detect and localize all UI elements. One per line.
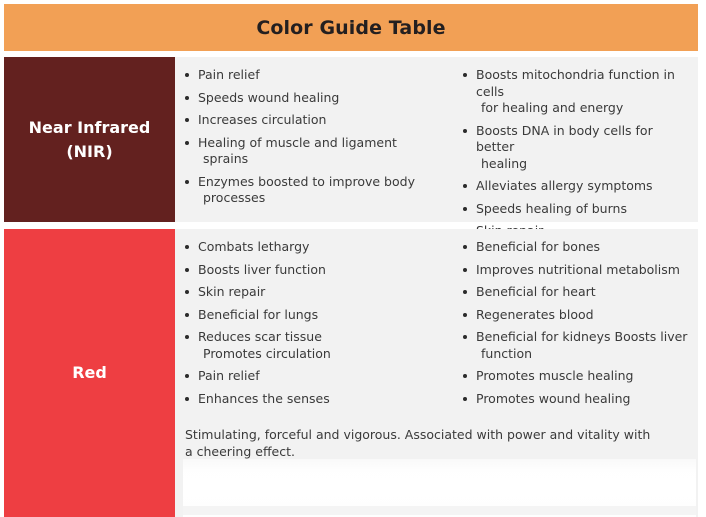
- list-item-text-continued: function: [476, 346, 690, 363]
- list-item-text: Speeds healing of burns: [476, 201, 627, 216]
- list-item: Beneficial for kidneys Boosts liver func…: [461, 329, 690, 362]
- list-item-text: Skin repair: [198, 284, 265, 299]
- list-item-text: Improves nutritional metabolism: [476, 262, 680, 277]
- row-label-line-primary: Red: [72, 361, 107, 384]
- list-item-text: Enhances the senses: [198, 391, 330, 406]
- list-item: Pain relief: [183, 67, 441, 84]
- list-item: Increases circulation: [183, 112, 441, 129]
- list-item-text-continued: sprains: [198, 151, 441, 168]
- bullet-column-left: Combats lethargy Boosts liver function S…: [183, 239, 447, 413]
- list-item-text-continued: processes: [198, 190, 441, 207]
- list-item-text: Speeds wound healing: [198, 90, 339, 105]
- list-item: Healing of muscle and ligament sprains: [183, 135, 441, 168]
- list-item-text: Alleviates allergy symptoms: [476, 178, 653, 193]
- bullet-column-right: Beneficial for bones Improves nutritiona…: [447, 239, 690, 413]
- list-item-text: Promotes muscle healing: [476, 368, 633, 383]
- list-item: Enhances the senses: [183, 391, 441, 408]
- bullet-list: Beneficial for bones Improves nutritiona…: [461, 239, 690, 407]
- list-item-text: Boosts mitochondria function in cells: [476, 67, 675, 99]
- list-item: Combats lethargy: [183, 239, 441, 256]
- row-label-cell-red: Red: [4, 229, 175, 517]
- bullet-columns: Combats lethargy Boosts liver function S…: [183, 239, 690, 413]
- table-row-near-infrared: Near Infrared (NIR) Pain relief Speeds w…: [4, 57, 698, 222]
- bullet-column-right: Boosts mitochondria function in cells fo…: [447, 67, 690, 246]
- list-item: Beneficial for bones: [461, 239, 690, 256]
- list-item: Speeds healing of burns: [461, 201, 690, 218]
- list-item-text: Regenerates blood: [476, 307, 594, 322]
- list-item: Boosts liver function: [183, 262, 441, 279]
- bullet-column-left: Pain relief Speeds wound healing Increas…: [183, 67, 447, 213]
- list-item: Beneficial for heart: [461, 284, 690, 301]
- erased-content-band: [183, 459, 696, 517]
- list-item: Improves nutritional metabolism: [461, 262, 690, 279]
- bullet-list: Combats lethargy Boosts liver function S…: [183, 239, 441, 407]
- row-label-cell-near-infrared: Near Infrared (NIR): [4, 57, 175, 222]
- list-item: Enzymes boosted to improve body processe…: [183, 174, 441, 207]
- list-item: Regenerates blood: [461, 307, 690, 324]
- row-label-line-primary: Near Infrared: [29, 116, 151, 139]
- list-item: Boosts DNA in body cells for better heal…: [461, 123, 690, 173]
- list-item-text: Boosts liver function: [198, 262, 326, 277]
- list-item: Beneficial for lungs: [183, 307, 441, 324]
- list-item-text: Beneficial for lungs: [198, 307, 318, 322]
- list-item-text: Enzymes boosted to improve body: [198, 174, 415, 189]
- list-item-text: Combats lethargy: [198, 239, 309, 254]
- list-item-text-continued: healing: [476, 156, 690, 173]
- list-item-text: Healing of muscle and ligament: [198, 135, 397, 150]
- list-item-text: Reduces scar tissue: [198, 329, 322, 344]
- list-item-text-continued: Promotes circulation: [198, 346, 441, 363]
- table-header-banner: Color Guide Table: [4, 4, 698, 51]
- list-item: Reduces scar tissue Promotes circulation: [183, 329, 441, 362]
- list-item-text: Boosts DNA in body cells for better: [476, 123, 653, 155]
- list-item-text: Beneficial for bones: [476, 239, 600, 254]
- list-item-text: Beneficial for kidneys Boosts liver: [476, 329, 687, 344]
- row-label-line-secondary: (NIR): [66, 140, 112, 163]
- list-item-text: Beneficial for heart: [476, 284, 596, 299]
- bullet-list: Boosts mitochondria function in cells fo…: [461, 67, 690, 240]
- bullet-columns: Pain relief Speeds wound healing Increas…: [183, 67, 690, 246]
- list-item-text: Pain relief: [198, 368, 260, 383]
- row-content-red: Combats lethargy Boosts liver function S…: [175, 229, 698, 517]
- page-title: Color Guide Table: [256, 17, 445, 39]
- list-item: Alleviates allergy symptoms: [461, 178, 690, 195]
- list-item: Skin repair: [183, 284, 441, 301]
- list-item: Pain relief: [183, 368, 441, 385]
- list-item: Speeds wound healing: [183, 90, 441, 107]
- list-item: Promotes wound healing: [461, 391, 690, 408]
- list-item-text: Increases circulation: [198, 112, 326, 127]
- color-guide-table: Color Guide Table Near Infrared (NIR) Pa…: [0, 0, 706, 517]
- list-item-text: Promotes wound healing: [476, 391, 630, 406]
- row-note-red: Stimulating, forceful and vigorous. Asso…: [183, 427, 657, 461]
- list-item-text: Pain relief: [198, 67, 260, 82]
- list-item-text-continued: for healing and energy: [476, 100, 690, 117]
- bullet-list: Pain relief Speeds wound healing Increas…: [183, 67, 441, 207]
- list-item: Boosts mitochondria function in cells fo…: [461, 67, 690, 117]
- table-row-red: Red Combats lethargy Boosts liver functi…: [4, 229, 698, 517]
- list-item: Promotes muscle healing: [461, 368, 690, 385]
- row-content-near-infrared: Pain relief Speeds wound healing Increas…: [175, 57, 698, 222]
